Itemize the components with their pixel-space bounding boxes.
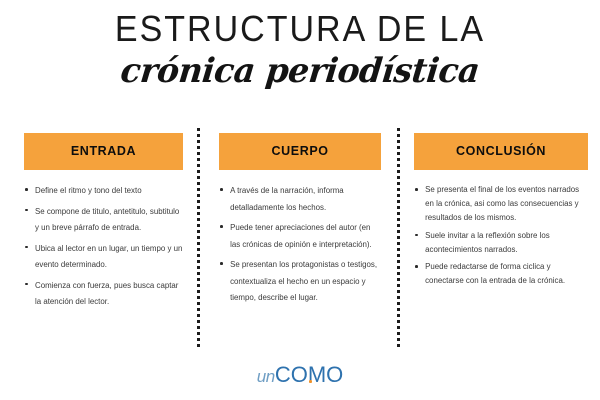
list-item: Suele invitar a la reflexión sobre los a… [414,229,588,257]
bullet-list-cuerpo: A través de la narración, informa detall… [219,183,381,307]
list-item: Comienza con fuerza, pues busca captar l… [24,278,183,311]
column-conclusion: CONCLUSIÓN Se presenta el final de los e… [400,128,600,350]
list-item: Puede redactarse de forma ciclica y cone… [414,260,588,288]
columns-container: ENTRADA Define el ritmo y tono del texto… [0,128,600,350]
column-header-entrada: ENTRADA [24,133,183,170]
title-line-script: crónica periodística [0,50,600,93]
logo-accent-dot [309,380,312,383]
list-item: Se presentan los protagonistas o testigo… [219,257,381,307]
logo-text-como: COMO [275,362,343,387]
uncomo-logo: unCOMO [0,362,600,388]
list-item: Puede tener apreciaciones del autor (en … [219,220,381,253]
title-line-primary: ESTRUCTURA DE LA [0,8,600,50]
list-item: Define el ritmo y tono del texto [24,183,183,200]
logo-text-un: un [257,367,275,386]
list-item: Ubica al lector en un lugar, un tiempo y… [24,241,183,274]
list-item: Se presenta el final de los eventos narr… [414,183,588,226]
list-item: Se compone de titulo, antetitulo, subtit… [24,204,183,237]
page-title: ESTRUCTURA DE LA crónica periodística [0,8,600,92]
bullet-list-entrada: Define el ritmo y tono del texto Se comp… [24,183,183,311]
column-cuerpo: CUERPO A través de la narración, informa… [200,128,397,350]
list-item: A través de la narración, informa detall… [219,183,381,216]
column-entrada: ENTRADA Define el ritmo y tono del texto… [0,128,197,350]
bullet-list-conclusion: Se presenta el final de los eventos narr… [414,183,588,288]
column-header-conclusion: CONCLUSIÓN [414,133,588,170]
column-header-cuerpo: CUERPO [219,133,381,170]
